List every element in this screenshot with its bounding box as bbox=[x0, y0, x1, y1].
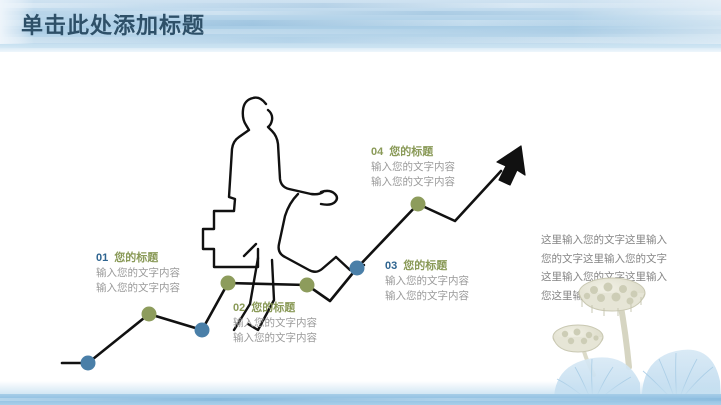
callout-01-line-1: 输入您的文字内容 bbox=[96, 266, 180, 281]
callout-block-03[interactable]: 03您的标题 输入您的文字内容 输入您的文字内容 bbox=[385, 258, 469, 304]
businessman-figure-icon bbox=[203, 98, 364, 330]
callout-03-title: 您的标题 bbox=[403, 260, 447, 272]
page-title[interactable]: 单击此处添加标题 bbox=[21, 11, 441, 41]
footer-band bbox=[0, 381, 721, 405]
callout-01-line-2: 输入您的文字内容 bbox=[96, 281, 180, 296]
callout-01-title: 您的标题 bbox=[114, 252, 158, 264]
footer-soft-wash bbox=[0, 381, 721, 395]
callout-03-number: 03 bbox=[385, 260, 397, 272]
side-paragraph[interactable]: 这里输入您的文字这里输入 您的文字这里输入您的文字 这里输入您的文字这里输入 您… bbox=[541, 231, 706, 305]
callout-block-01[interactable]: 01您的标题 输入您的文字内容 输入您的文字内容 bbox=[96, 250, 180, 296]
callout-02-line-2: 输入您的文字内容 bbox=[233, 331, 317, 346]
side-paragraph-line-3: 这里输入您的文字这里输入 bbox=[541, 268, 706, 287]
side-paragraph-line-4: 您这里输入您的文字 bbox=[541, 287, 706, 306]
data-point-marker bbox=[411, 197, 426, 212]
data-point-marker bbox=[142, 307, 157, 322]
growth-line-chart bbox=[0, 48, 721, 405]
callout-block-04[interactable]: 04您的标题 输入您的文字内容 输入您的文字内容 bbox=[371, 144, 455, 190]
callout-04-heading: 04您的标题 bbox=[371, 144, 455, 160]
data-point-marker bbox=[195, 323, 210, 338]
callout-04-title: 您的标题 bbox=[389, 146, 433, 158]
side-paragraph-line-2: 您的文字这里输入您的文字 bbox=[541, 250, 706, 269]
callout-02-number: 02 bbox=[233, 302, 245, 314]
callout-04-number: 04 bbox=[371, 146, 383, 158]
header-right-wash bbox=[571, 0, 721, 48]
callout-01-number: 01 bbox=[96, 252, 108, 264]
callout-block-02[interactable]: 02您的标题 输入您的文字内容 输入您的文字内容 bbox=[233, 300, 317, 346]
side-paragraph-line-1: 这里输入您的文字这里输入 bbox=[541, 231, 706, 250]
callout-03-line-1: 输入您的文字内容 bbox=[385, 274, 469, 289]
data-point-marker bbox=[350, 261, 365, 276]
callout-03-heading: 03您的标题 bbox=[385, 258, 469, 274]
callout-02-heading: 02您的标题 bbox=[233, 300, 317, 316]
callout-03-line-2: 输入您的文字内容 bbox=[385, 289, 469, 304]
upward-arrow-icon bbox=[497, 146, 525, 185]
callout-01-heading: 01您的标题 bbox=[96, 250, 180, 266]
callout-04-line-2: 输入您的文字内容 bbox=[371, 175, 455, 190]
footer-streak bbox=[0, 398, 721, 401]
data-point-marker bbox=[81, 356, 96, 371]
callout-04-line-1: 输入您的文字内容 bbox=[371, 160, 455, 175]
data-point-marker bbox=[221, 276, 236, 291]
data-point-marker bbox=[300, 278, 315, 293]
slide-canvas: 单击此处添加标题 01您的标题 输入您的文字内容 bbox=[0, 0, 721, 405]
callout-02-title: 您的标题 bbox=[251, 302, 295, 314]
callout-02-line-1: 输入您的文字内容 bbox=[233, 316, 317, 331]
